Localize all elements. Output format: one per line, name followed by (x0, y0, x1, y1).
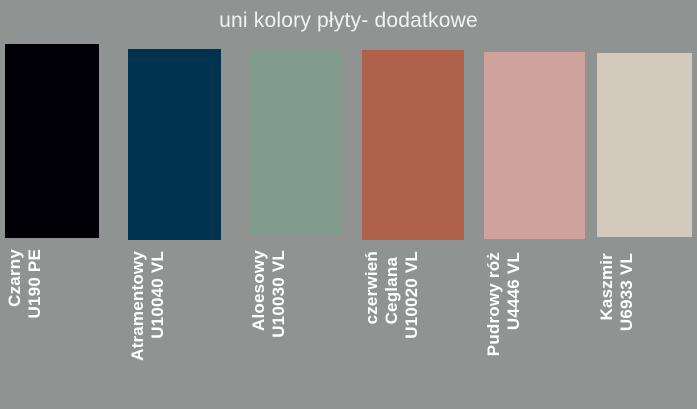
swatch-name: Ceglanaczerwień (362, 251, 401, 324)
swatch-column: U10040 VLAtramentowy (128, 0, 221, 409)
swatch-name-line: Ceglana (382, 251, 401, 324)
swatch-name-line: Pudrowy róż (484, 252, 503, 356)
page-title: uni kolory płyty- dodatkowe (0, 8, 697, 34)
swatch-code: U4446 VL (504, 252, 523, 330)
swatch-column: U10030 VLAloesowy (249, 0, 341, 409)
swatch-name-line: czerwień (362, 251, 381, 324)
swatch-code: U10020 VL (402, 251, 421, 339)
color-chip[interactable] (5, 44, 99, 238)
swatch-code: U6933 VL (617, 253, 636, 331)
swatch-column: U6933 VLKaszmir (597, 0, 692, 409)
swatch-name: Kaszmir (597, 253, 616, 321)
color-chip[interactable] (249, 50, 341, 236)
swatch-name: Atramentowy (128, 251, 147, 361)
swatch-caption: U190 PECzarny (5, 249, 99, 318)
color-palette-board: uni kolory płyty- dodatkowe U190 PECzarn… (0, 0, 697, 409)
swatch-caption: U10030 VLAloesowy (249, 250, 341, 338)
swatch-name: Aloesowy (249, 250, 268, 331)
color-chip[interactable] (128, 49, 221, 240)
swatch-column: U4446 VLPudrowy róż (484, 0, 585, 409)
swatch-name: Czarny (5, 249, 24, 307)
swatch-code: U10040 VL (148, 251, 167, 339)
color-chip[interactable] (484, 52, 585, 239)
swatch-name-line: Aloesowy (249, 250, 268, 331)
swatch-name-line: Czarny (5, 249, 24, 307)
swatch-column: U190 PECzarny (5, 0, 99, 409)
swatch-column: U10020 VLCeglanaczerwień (362, 0, 464, 409)
swatch-caption: U6933 VLKaszmir (597, 253, 692, 331)
swatch-caption: U10020 VLCeglanaczerwień (362, 251, 464, 339)
swatch-caption: U4446 VLPudrowy róż (484, 252, 585, 356)
swatch-code: U190 PE (25, 249, 44, 318)
color-chip[interactable] (362, 50, 464, 240)
swatch-caption: U10040 VLAtramentowy (128, 251, 221, 361)
swatch-code: U10030 VL (269, 250, 288, 338)
swatch-name-line: Kaszmir (597, 253, 616, 321)
color-chip[interactable] (597, 53, 692, 237)
swatch-name: Pudrowy róż (484, 252, 503, 356)
swatch-name-line: Atramentowy (128, 251, 147, 361)
